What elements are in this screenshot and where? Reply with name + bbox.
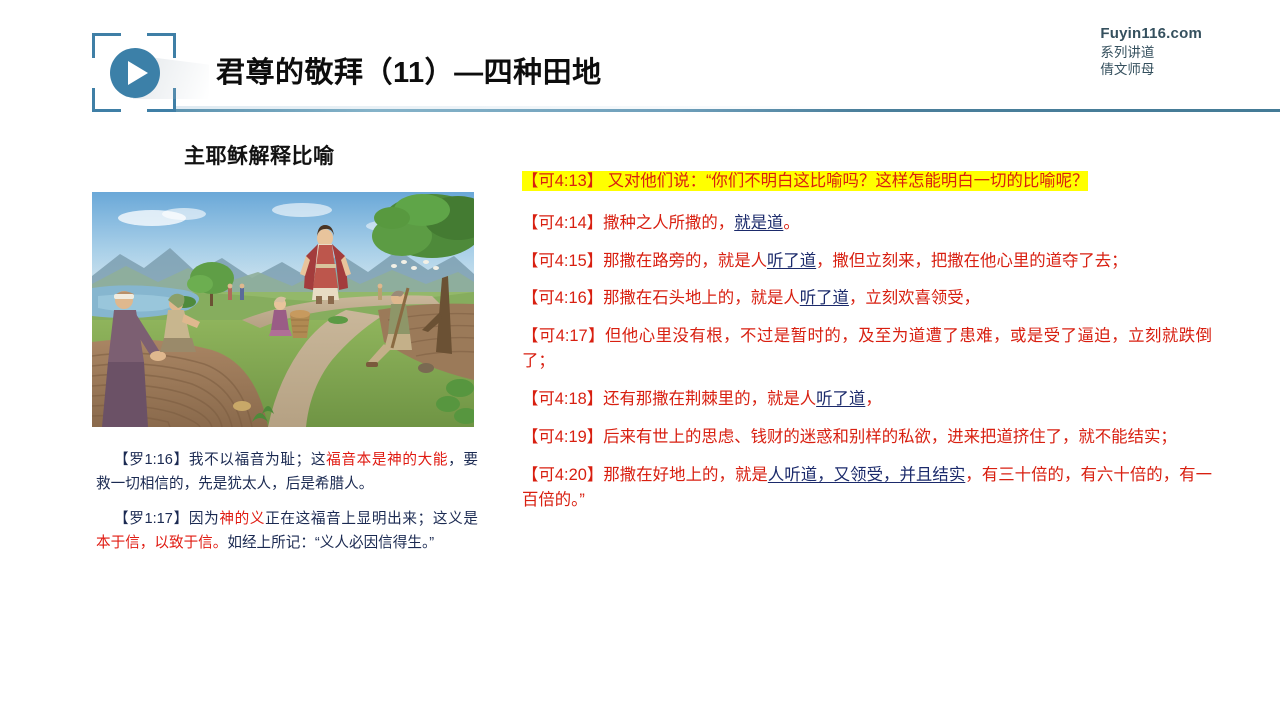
verse-ref: 【可4:15】 — [522, 252, 603, 270]
verse-mark-4-15: 【可4:15】那撒在路旁的，就是人听了道，撒但立刻来，把撒在他心里的道夺了去； — [522, 249, 1212, 274]
frame-notch-left — [91, 58, 96, 88]
verse-mark-4-16: 【可4:16】那撒在石头地上的，就是人听了道，立刻欢喜领受， — [522, 286, 1212, 311]
verse-underlined-text: 就是道 — [734, 214, 783, 232]
verse-underlined-text: 听了道 — [816, 390, 865, 408]
caption-emphasis: 本于信，以致于信。 — [96, 535, 227, 551]
verse-mark-4-14: 【可4:14】撒种之人所撒的，就是道。 — [522, 211, 1212, 236]
play-triangle-icon — [128, 61, 148, 85]
caption-emphasis: 福音本是神的大能 — [326, 452, 448, 468]
verse-ref: 【可4:19】 — [522, 428, 603, 446]
caption-rom-1-17: 【罗1:17】因为神的义正在这福音上显明出来；这义是本于信，以致于信。如经上所记… — [96, 508, 478, 555]
verse-ref: 【可4:16】 — [522, 289, 603, 307]
verse-text: ，撒但立刻来，把撒在他心里的道夺了去； — [816, 252, 1127, 270]
verse-text: 后来有世上的思虑、钱财的迷惑和别样的私欲，进来把道挤住了，就不能结实； — [603, 428, 1177, 446]
left-column: 主耶稣解释比喻 — [92, 140, 482, 568]
caption-rom-1-16: 【罗1:16】我不以福音为耻；这福音本是神的大能，要救一切相信的，先是犹太人，后… — [96, 449, 478, 496]
caption-text: 如经上所记：“义人必因信得生。” — [227, 535, 434, 551]
caption-ref: 【罗1:17】 — [114, 511, 189, 527]
scripture-captions: 【罗1:16】我不以福音为耻；这福音本是神的大能，要救一切相信的，先是犹太人，后… — [92, 449, 482, 556]
section-heading: 主耶稣解释比喻 — [184, 140, 482, 170]
verse-ref: 【可4:20】 — [522, 466, 603, 484]
brand-block: Fuyin116.com 系列讲道 倩文师母 — [1100, 24, 1202, 79]
verse-underlined-text: 听了道 — [800, 289, 849, 307]
caption-emphasis: 神的义 — [219, 511, 265, 527]
frame-notch-bottom — [121, 108, 147, 113]
caption-text: 我不以福音为耻；这 — [189, 452, 326, 468]
header-divider — [176, 109, 1280, 112]
verse-text: 又对他们说：“你们不明白这比喻吗？这样怎能明白一切的比喻呢？ — [603, 172, 1088, 190]
verse-mark-4-19: 【可4:19】后来有世上的思虑、钱财的迷惑和别样的私欲，进来把道挤住了，就不能结… — [522, 425, 1212, 450]
verse-ref: 【可4:18】 — [522, 390, 603, 408]
verse-underlined-text: 听了道 — [767, 252, 816, 270]
verse-text: 。 — [783, 214, 799, 232]
verse-text: 那撒在石头地上的，就是人 — [603, 289, 800, 307]
verse-mark-4-18: 【可4:18】还有那撒在荆棘里的，就是人听了道， — [522, 387, 1212, 412]
verse-ref: 【可4:14】 — [522, 214, 603, 232]
slide-header: 君尊的敬拜（11）—四种田地 Fuyin116.com 系列讲道 倩文师母 — [0, 0, 1280, 118]
verse-mark-4-13: 【可4:13】 又对他们说：“你们不明白这比喻吗？这样怎能明白一切的比喻呢？ — [522, 168, 1212, 195]
caption-text: 正在这福音上显明出来；这义是 — [265, 511, 478, 527]
brand-site: Fuyin116.com — [1100, 24, 1202, 44]
verse-ref: 【可4:13】 — [522, 172, 603, 190]
verse-text: ， — [865, 390, 881, 408]
verse-text: 那撒在路旁的，就是人 — [603, 252, 767, 270]
page-title: 君尊的敬拜（11）—四种田地 — [216, 49, 602, 91]
right-column: 【可4:13】 又对他们说：“你们不明白这比喻吗？这样怎能明白一切的比喻呢？ 【… — [522, 168, 1212, 526]
verse-mark-4-20: 【可4:20】那撒在好地上的，就是人听道，又领受，并且结实，有三十倍的，有六十倍… — [522, 463, 1212, 513]
brand-series: 系列讲道 — [1100, 44, 1202, 62]
verse-text: 那撒在好地上的，就是 — [603, 466, 768, 484]
verse-text: ，立刻欢喜领受， — [849, 289, 980, 307]
verse-mark-4-17: 【可4:17】但他心里没有根，不过是暂时的，及至为道遭了患难，或是受了逼迫，立刻… — [522, 324, 1212, 374]
verse-ref: 【可4:17】 — [522, 327, 605, 345]
caption-ref: 【罗1:16】 — [114, 452, 189, 468]
frame-notch-top — [121, 32, 147, 37]
sower-parable-illustration — [92, 192, 474, 427]
verse-text: 还有那撒在荆棘里的，就是人 — [603, 390, 816, 408]
verse-underlined-text: 人听道，又领受，并且结实 — [768, 466, 965, 484]
brand-speaker: 倩文师母 — [1100, 61, 1202, 79]
verse-text: 撒种之人所撒的， — [603, 214, 734, 232]
verse-text: 但他心里没有根，不过是暂时的，及至为道遭了患难，或是受了逼迫，立刻就跌倒了； — [522, 327, 1212, 370]
caption-text: 因为 — [189, 511, 220, 527]
play-button-icon[interactable] — [110, 48, 160, 98]
